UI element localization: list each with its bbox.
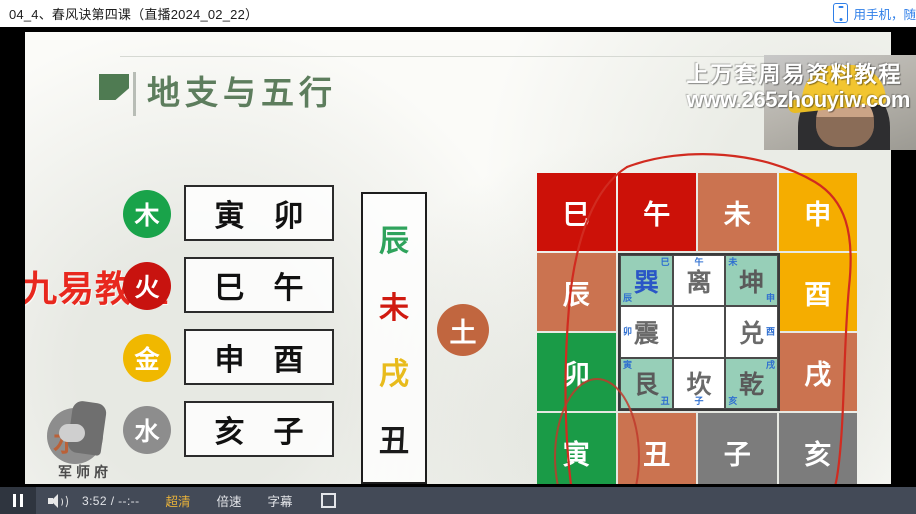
trigram-grid: 巽巳辰离午坤未申震卯兑酉艮寅丑坎子乾戌亥 xyxy=(618,253,780,411)
trigram-char: 乾 xyxy=(739,365,764,401)
watermark-right-line2: www.265zhouyiw.com xyxy=(687,88,910,111)
pause-button[interactable] xyxy=(0,487,36,514)
earth-branch-box: 辰未戌丑 xyxy=(361,192,427,484)
grid-branch-cell: 未 xyxy=(698,173,777,251)
top-bar: 04_4、春风诀第四课（直播2024_02_22） 用手机，随 xyxy=(0,0,916,28)
trigram-branch-label: 丑 xyxy=(661,397,670,406)
trigram-cell: 兑酉 xyxy=(725,306,778,357)
trigram-char: 巽 xyxy=(634,263,659,299)
video-player-page: 04_4、春风诀第四课（直播2024_02_22） 用手机，随 地支与五行 木寅… xyxy=(0,0,916,514)
branch-char: 寅 xyxy=(215,191,245,235)
grid-branch-cell: 午 xyxy=(618,173,697,251)
trigram-branch-label: 辰 xyxy=(623,294,632,303)
webcam-face-shadow xyxy=(816,117,874,147)
branch-char: 酉 xyxy=(274,335,304,379)
grid-branch-cell: 酉 xyxy=(779,253,858,331)
title-rule xyxy=(133,72,136,116)
trigram-branch-label: 巳 xyxy=(661,258,670,267)
trigram-char: 坤 xyxy=(739,263,764,299)
branch-pair-box: 巳午 xyxy=(184,257,334,313)
mobile-phone-icon xyxy=(833,3,848,23)
branch-char: 亥 xyxy=(215,407,245,451)
trigram-char: 离 xyxy=(686,263,711,299)
flag-icon xyxy=(99,74,129,100)
trigram-cell: 坎子 xyxy=(673,358,726,409)
trigram-center-cell xyxy=(673,306,726,357)
grid-branch-cell: 丑 xyxy=(618,413,697,484)
earth-branch-char: 未 xyxy=(379,283,409,327)
trigram-char: 艮 xyxy=(634,365,659,401)
fullscreen-icon[interactable] xyxy=(321,493,336,508)
earth-branch-char: 戌 xyxy=(379,349,409,393)
element-badge: 水 xyxy=(123,406,171,454)
grid-branch-cell: 辰 xyxy=(537,253,616,331)
branch-char: 午 xyxy=(274,263,304,307)
player-controls: 3:52 / --:-- 超清 倍速 字幕 xyxy=(0,487,916,514)
trigram-cell: 巽巳辰 xyxy=(620,255,673,306)
watermark-right: 上万套周易资料教程 www.265zhouyiw.com xyxy=(687,63,910,111)
earth-badge: 土 xyxy=(437,304,489,356)
grid-branch-cell: 亥 xyxy=(779,413,858,484)
element-badge: 火 xyxy=(123,262,171,310)
trigram-branch-label: 子 xyxy=(694,397,703,406)
trigram-branch-label: 亥 xyxy=(728,397,737,406)
speaker-icon xyxy=(48,494,64,508)
element-badge: 金 xyxy=(123,334,171,382)
branch-pair-box: 申酉 xyxy=(184,329,334,385)
branch-pair-box: 亥子 xyxy=(184,401,334,457)
grid-branch-cell: 戌 xyxy=(779,333,858,411)
trigram-char: 兑 xyxy=(739,314,764,350)
slide-title-text: 地支与五行 xyxy=(147,72,337,116)
trigram-char: 震 xyxy=(634,314,659,350)
grid-branch-cell: 子 xyxy=(698,413,777,484)
logo-figure-arm xyxy=(59,424,85,442)
video-stage[interactable]: 地支与五行 木寅卯火巳午金申酉水亥子 辰未戌丑 土 巳午未申辰酉卯戌寅丑子亥 巽… xyxy=(0,27,916,487)
trigram-branch-label: 戌 xyxy=(766,361,775,370)
grid-branch-cell: 寅 xyxy=(537,413,616,484)
branch-char: 申 xyxy=(215,335,245,379)
mobile-hint[interactable]: 用手机，随 xyxy=(833,3,916,23)
trigram-cell: 震卯 xyxy=(620,306,673,357)
logo-label: 军师府 xyxy=(39,462,131,482)
time-display: 3:52 / --:-- xyxy=(82,494,139,508)
trigram-branch-label: 申 xyxy=(766,294,775,303)
trigram-cell: 离午 xyxy=(673,255,726,306)
page-title: 04_4、春风诀第四课（直播2024_02_22） xyxy=(9,4,258,23)
branch-char: 巳 xyxy=(215,263,245,307)
branch-char: 子 xyxy=(274,407,304,451)
watermark-right-line1: 上万套周易资料教程 xyxy=(687,63,910,86)
element-badge: 木 xyxy=(123,190,171,238)
mobile-hint-label: 用手机，随 xyxy=(853,4,916,23)
grid-branch-cell: 卯 xyxy=(537,333,616,411)
grid-branch-cell: 申 xyxy=(779,173,858,251)
trigram-cell: 坤未申 xyxy=(725,255,778,306)
quality-button[interactable]: 超清 xyxy=(165,491,190,510)
trigram-branch-label: 卯 xyxy=(623,327,632,336)
earth-branch-char: 丑 xyxy=(379,416,409,460)
playback-speed-button[interactable]: 倍速 xyxy=(217,491,242,510)
subtitles-button[interactable]: 字幕 xyxy=(268,491,293,510)
trigram-branch-label: 未 xyxy=(728,258,737,267)
trigram-cell: 乾戌亥 xyxy=(725,358,778,409)
branch-pair-box: 寅卯 xyxy=(184,185,334,241)
trigram-branch-label: 午 xyxy=(694,258,703,267)
studio-logo: 水 军师府 xyxy=(39,402,131,482)
branch-char: 卯 xyxy=(274,191,304,235)
slide-title: 地支与五行 xyxy=(99,72,337,116)
grid-branch-cell: 巳 xyxy=(537,173,616,251)
trigram-branch-label: 寅 xyxy=(623,361,632,370)
earth-branch-char: 辰 xyxy=(379,216,409,260)
trigram-branch-label: 酉 xyxy=(766,327,775,336)
volume-button[interactable] xyxy=(36,494,76,508)
trigram-cell: 艮寅丑 xyxy=(620,358,673,409)
